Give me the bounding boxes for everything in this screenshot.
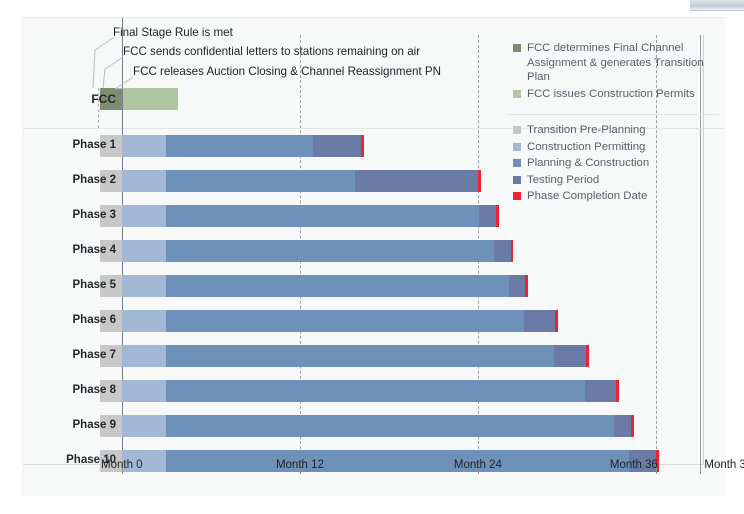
bar-segment bbox=[585, 380, 616, 402]
bar-segment bbox=[509, 275, 525, 297]
bar-segment bbox=[313, 135, 360, 157]
legend-swatch-icon bbox=[513, 126, 521, 134]
bar-segment bbox=[554, 345, 587, 367]
bar-segment bbox=[122, 240, 166, 262]
legend-item[interactable]: FCC issues Construction Permits bbox=[513, 87, 709, 102]
bar-segment bbox=[166, 135, 313, 157]
row-label-phase-5: Phase 5 bbox=[23, 280, 116, 292]
bar-segment bbox=[479, 205, 495, 227]
bar-segment bbox=[361, 135, 364, 157]
bar-segment bbox=[555, 310, 558, 332]
bar-segment bbox=[166, 170, 354, 192]
bar-segment bbox=[525, 275, 528, 297]
tick-month-39 bbox=[700, 464, 701, 474]
legend-swatch-icon bbox=[513, 90, 521, 98]
legend-divider bbox=[506, 114, 719, 115]
bar-segment bbox=[166, 450, 629, 472]
row-label-phase-8: Phase 8 bbox=[23, 385, 116, 397]
bar-segment bbox=[524, 310, 555, 332]
window-chrome-artifact bbox=[690, 0, 744, 11]
bar-segment bbox=[166, 240, 494, 262]
bar-segment bbox=[166, 205, 479, 227]
legend-swatch-icon bbox=[513, 44, 521, 52]
legend-label: Construction Permitting bbox=[527, 141, 645, 153]
legend-fcc: FCC determines Final Channel Assignment … bbox=[513, 41, 709, 103]
fcc-milestone-dashed-line bbox=[98, 88, 99, 128]
legend-item[interactable]: Phase Completion Date bbox=[513, 189, 709, 204]
legend-item[interactable]: Testing Period bbox=[513, 173, 709, 188]
row-label-phase-4: Phase 4 bbox=[23, 245, 116, 257]
row-label-phase-7: Phase 7 bbox=[23, 350, 116, 362]
legend-item[interactable]: Construction Permitting bbox=[513, 140, 709, 155]
bar-segment bbox=[122, 205, 166, 227]
bar-segment bbox=[122, 345, 166, 367]
legend-swatch-icon bbox=[513, 176, 521, 184]
bar-segment bbox=[166, 380, 584, 402]
bar-segment bbox=[122, 135, 166, 157]
legend-label: Planning & Construction bbox=[527, 157, 649, 169]
tick-label-month-24: Month 24 bbox=[454, 459, 502, 471]
legend-label: Transition Pre-Planning bbox=[527, 124, 646, 136]
legend-item[interactable]: Transition Pre-Planning bbox=[513, 123, 709, 138]
row-label-phase-9: Phase 9 bbox=[23, 420, 116, 432]
bar-segment bbox=[166, 310, 523, 332]
bar-segment bbox=[511, 240, 514, 262]
legend-label: Phase Completion Date bbox=[527, 190, 647, 202]
tick-label-month-12: Month 12 bbox=[276, 459, 324, 471]
legend-item[interactable]: FCC determines Final Channel Assignment … bbox=[513, 41, 709, 85]
row-label-phase-3: Phase 3 bbox=[23, 210, 116, 222]
bar-segment bbox=[478, 170, 481, 192]
legend-swatch-icon bbox=[513, 143, 521, 151]
row-label-phase-1: Phase 1 bbox=[23, 140, 116, 152]
bar-segment bbox=[166, 345, 553, 367]
bar-segment bbox=[496, 205, 499, 227]
bar-segment bbox=[614, 415, 630, 437]
tick-label-month-0: Month 0 bbox=[101, 459, 143, 471]
bar-segment bbox=[355, 170, 478, 192]
tick-label-month-39: Month 39 bbox=[704, 459, 744, 471]
bar-segment bbox=[166, 275, 509, 297]
legend-swatch-icon bbox=[513, 159, 521, 167]
bar-segment bbox=[122, 275, 166, 297]
bar-segment bbox=[616, 380, 619, 402]
legend-label: FCC determines Final Channel Assignment … bbox=[527, 42, 704, 83]
legend-swatch-icon bbox=[513, 192, 521, 200]
legend-label: Testing Period bbox=[527, 174, 599, 186]
bar-segment bbox=[122, 415, 166, 437]
bar-segment bbox=[494, 240, 510, 262]
row-label-phase-2: Phase 2 bbox=[23, 175, 116, 187]
legend-item[interactable]: Planning & Construction bbox=[513, 156, 709, 171]
bar-segment bbox=[122, 310, 166, 332]
legend-right-rule bbox=[703, 35, 704, 464]
tick-label-month-36: Month 36 bbox=[610, 459, 658, 471]
bar-segment bbox=[122, 170, 166, 192]
bar-segment bbox=[631, 415, 634, 437]
bar-segment bbox=[122, 380, 166, 402]
legend-phases: Transition Pre-PlanningConstruction Perm… bbox=[513, 123, 709, 206]
bar-segment bbox=[586, 345, 589, 367]
legend-label: FCC issues Construction Permits bbox=[527, 88, 695, 100]
bar-segment bbox=[166, 415, 614, 437]
chart-panel: FCCPhase 1Phase 2Phase 3Phase 4Phase 5Ph… bbox=[22, 17, 725, 496]
row-label-phase-6: Phase 6 bbox=[23, 315, 116, 327]
